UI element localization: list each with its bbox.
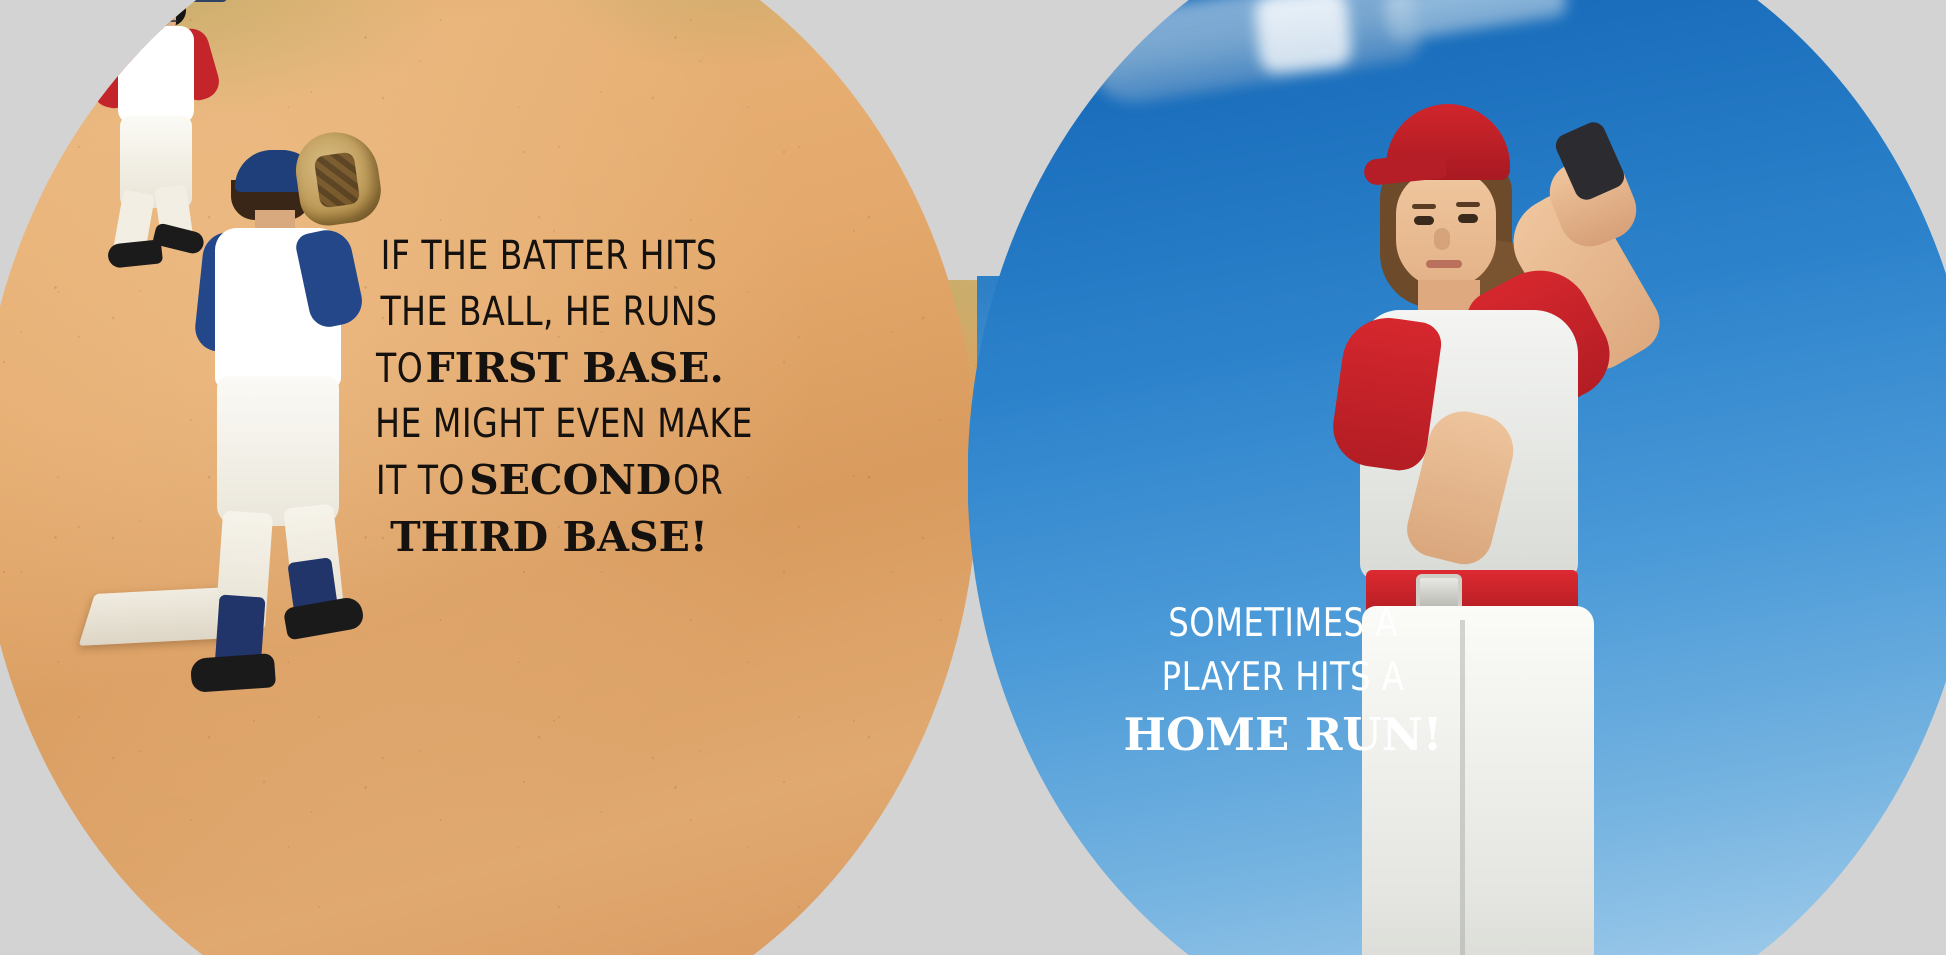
spread-canvas: IF THE BATTER HITS THE BALL, HE RUNS TO … xyxy=(0,0,1946,955)
left-caption-line-2: THE BALL, HE RUNS xyxy=(375,292,723,333)
batter-player xyxy=(1268,40,1728,955)
left-caption-line-6: THIRD BASE! xyxy=(360,517,738,559)
l6-post: ! xyxy=(690,513,708,561)
right-caption-line-1: SOMETIMES A xyxy=(1131,604,1435,644)
right-caption-block: SOMETIMES A PLAYER HITS A HOME RUN! xyxy=(1118,604,1448,771)
right-caption-line-3: HOME RUN! xyxy=(1118,712,1448,758)
l5-post: OR xyxy=(674,461,724,502)
batter-right-eye xyxy=(1458,214,1478,223)
l3-pre: TO xyxy=(376,349,423,390)
batter-right-eyebrow xyxy=(1456,202,1480,207)
right-caption-line-2: PLAYER HITS A xyxy=(1131,658,1435,698)
left-caption-line-5: IT TO SECOND OR xyxy=(360,460,738,502)
right-page-circle xyxy=(968,0,1946,955)
r3-bold: HOME RUN xyxy=(1123,708,1422,761)
glove-webbing xyxy=(314,151,361,208)
l3-bold: FIRST BASE xyxy=(425,344,709,392)
bat-shaft xyxy=(1383,0,1568,43)
batter-nose xyxy=(1434,228,1450,250)
left-caption-block: IF THE BATTER HITS THE BALL, HE RUNS TO … xyxy=(360,236,738,574)
runner-jersey xyxy=(118,26,194,124)
batter-mouth xyxy=(1426,260,1462,268)
pants-seam xyxy=(1460,620,1465,955)
r3-post: ! xyxy=(1423,708,1443,761)
fielder-pants xyxy=(217,376,339,526)
l3-post: . xyxy=(710,344,724,392)
left-caption-line-1: IF THE BATTER HITS xyxy=(375,236,723,277)
l5-bold: SECOND xyxy=(469,456,671,504)
fielder-left-shoe xyxy=(190,653,276,693)
left-caption-line-4: HE MIGHT EVEN MAKE xyxy=(375,404,723,445)
l6-bold: THIRD BASE xyxy=(390,513,690,561)
batter-left-eye xyxy=(1414,216,1434,225)
batter-left-eyebrow xyxy=(1412,204,1436,209)
l5-pre: IT TO xyxy=(376,461,465,502)
left-caption-line-3: TO FIRST BASE. xyxy=(360,348,738,390)
